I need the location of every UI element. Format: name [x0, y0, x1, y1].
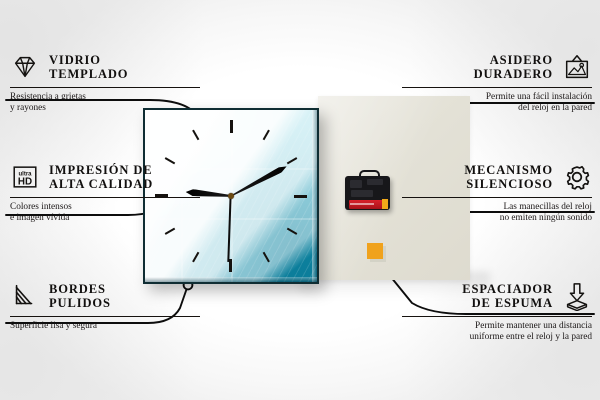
feature-subtitle: Superficie lisa y segura — [10, 321, 200, 332]
glass-edge-right — [312, 110, 317, 282]
feature-header: ESPACIADOR DE ESPUMA — [402, 281, 592, 311]
feature-espaciador-de-espuma[interactable]: ESPACIADOR DE ESPUMA Permite mantener un… — [402, 281, 592, 344]
ultra-hd-icon: ultra HD — [10, 162, 40, 192]
feature-impresion-alta-calidad[interactable]: ultra HD IMPRESIÓN DE ALTA CALIDAD Color… — [10, 162, 200, 225]
feature-divider — [402, 87, 592, 88]
feature-title: BORDES PULIDOS — [49, 282, 111, 311]
foam-spacer-icon — [562, 281, 592, 311]
feature-title: MECANISMO SILENCIOSO — [464, 163, 553, 192]
polished-edges-icon — [10, 281, 40, 311]
feature-subtitle: Colores intensos e imagen vívida — [10, 202, 200, 225]
wall-hanger-icon — [562, 52, 592, 82]
feature-header: ultra HD IMPRESIÓN DE ALTA CALIDAD — [10, 162, 200, 192]
hour-tick — [231, 195, 307, 197]
mechanism-detail — [350, 180, 362, 188]
battery-label-stripe — [350, 203, 374, 205]
feature-header: VIDRIO TEMPLADO — [10, 52, 200, 82]
battery-terminal — [382, 199, 388, 209]
infographic-canvas: VIDRIO TEMPLADO Resistencia a grietas y … — [0, 0, 600, 400]
clock-hub — [228, 193, 234, 199]
feature-subtitle: Las manecillas del reloj no emiten ningú… — [402, 202, 592, 225]
gear-icon — [562, 162, 592, 192]
diamond-icon — [10, 52, 40, 82]
feature-title: IMPRESIÓN DE ALTA CALIDAD — [49, 163, 153, 192]
foam-spacer — [367, 243, 383, 259]
feature-title: ESPACIADOR DE ESPUMA — [462, 282, 553, 311]
mechanism-detail — [351, 190, 373, 197]
feature-title: VIDRIO TEMPLADO — [49, 53, 128, 82]
feature-subtitle: Permite una fácil instalación del reloj … — [402, 92, 592, 115]
feature-divider — [10, 197, 200, 198]
ultra-hd-line2: HD — [18, 177, 32, 188]
feature-subtitle: Permite mantener una distancia uniforme … — [402, 321, 592, 344]
feature-header: BORDES PULIDOS — [10, 281, 200, 311]
feature-header: ASIDERO DURADERO — [402, 52, 592, 82]
mechanism-detail — [367, 179, 383, 185]
feature-divider — [402, 316, 592, 317]
feature-header: MECANISMO SILENCIOSO — [402, 162, 592, 192]
feature-bordes-pulidos[interactable]: BORDES PULIDOS Superficie lisa y segura — [10, 281, 200, 332]
feature-divider — [10, 87, 200, 88]
feature-subtitle: Resistencia a grietas y rayones — [10, 92, 200, 115]
feature-divider — [10, 316, 200, 317]
feature-title: ASIDERO DURADERO — [474, 53, 553, 82]
feature-vidrio-templado[interactable]: VIDRIO TEMPLADO Resistencia a grietas y … — [10, 52, 200, 115]
clock-mechanism — [345, 170, 390, 210]
feature-mecanismo-silencioso[interactable]: MECANISMO SILENCIOSO Las manecillas del … — [402, 162, 592, 225]
feature-divider — [402, 197, 592, 198]
mechanism-body — [345, 176, 390, 210]
hour-tick — [230, 120, 232, 196]
feature-asidero-duradero[interactable]: ASIDERO DURADERO Permite una fácil insta… — [402, 52, 592, 115]
